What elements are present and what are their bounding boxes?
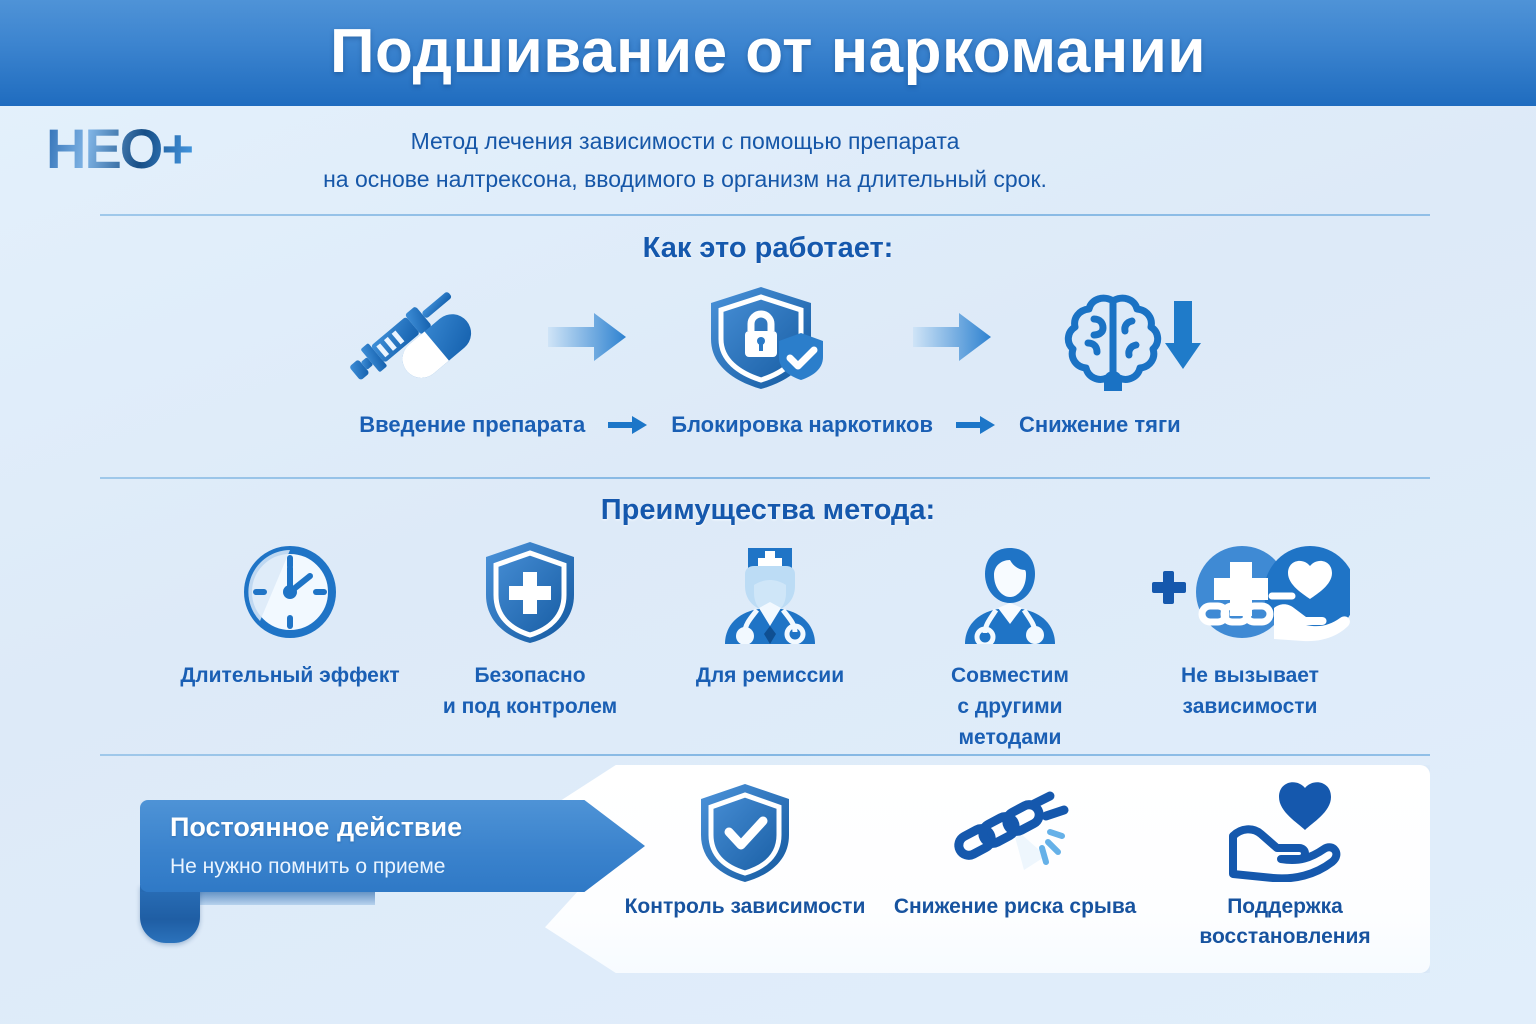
benefit-label: Для ремиссии	[696, 660, 844, 691]
benefits-heading: Преимущества метода:	[0, 494, 1536, 527]
doctor-nurse-icon	[715, 540, 825, 644]
bottom-features-list: Контроль зависимости	[610, 772, 1420, 968]
clock-icon	[240, 540, 340, 644]
how-it-works-labels: Введение препарата Блокировка наркотиков…	[300, 405, 1240, 445]
page-header: Подшивание от наркомании	[0, 0, 1536, 106]
hand-heart-icon	[1225, 782, 1345, 882]
benefit-label: Не вызывает зависимости	[1181, 660, 1319, 722]
benefit-item: Для ремиссии	[660, 540, 880, 691]
ribbon-tail	[140, 885, 200, 943]
divider-bottom	[100, 754, 1430, 756]
intro-text: Метод лечения зависимости с помощью преп…	[290, 122, 1080, 198]
brain-down-arrow-icon	[1060, 283, 1210, 391]
bottom-feature-item: Контроль зависимости	[615, 782, 875, 922]
infographic-page: Подшивание от наркомании НЕО+ Метод лече…	[0, 0, 1536, 1024]
benefit-item: Безопасно и под контролем	[420, 540, 640, 722]
how-it-works-heading: Как это работает:	[0, 232, 1536, 265]
bottom-feature-item: Поддержка восстановления	[1155, 782, 1415, 952]
neo-plus-logo: НЕО+	[46, 118, 246, 180]
shield-cross-icon	[482, 540, 578, 644]
arrow-right-icon	[544, 307, 632, 367]
ribbon-subtitle: Не нужно помнить о приеме	[170, 855, 445, 879]
benefit-item: Совместим с другими методами	[900, 540, 1120, 753]
how-step-label-2: Блокировка наркотиков	[671, 412, 933, 438]
shield-check-icon	[695, 782, 795, 882]
benefit-item: Длительный эффект	[180, 540, 400, 691]
arrow-right-icon	[909, 307, 997, 367]
bottom-feature-label: Контроль зависимости	[625, 892, 866, 922]
intro-line-1: Метод лечения зависимости с помощью преп…	[290, 122, 1080, 160]
arrow-right-icon	[605, 413, 651, 437]
page-title: Подшивание от наркомании	[0, 8, 1536, 96]
bottom-feature-item: Снижение риска срыва	[885, 782, 1145, 922]
bottom-feature-label: Поддержка восстановления	[1199, 892, 1370, 952]
benefit-label: Длительный эффект	[180, 660, 399, 691]
benefit-item: Не вызывает зависимости	[1140, 540, 1360, 722]
broken-chain-icon	[950, 782, 1080, 882]
chain-heart-hand-icon	[1150, 540, 1350, 644]
divider-top	[100, 214, 1430, 216]
bottom-feature-label: Снижение риска срыва	[894, 892, 1136, 922]
ribbon-title: Постоянное действие	[170, 812, 462, 843]
doctor-stethoscope-icon	[955, 540, 1065, 644]
intro-line-2: на основе налтрексона, вводимого в орган…	[290, 160, 1080, 198]
how-step-label-3: Снижение тяги	[1019, 412, 1181, 438]
how-it-works-icons	[330, 282, 1210, 392]
shield-lock-icon	[695, 283, 845, 391]
benefits-list: Длительный эффект Безопасно и под контро…	[180, 540, 1360, 740]
benefit-label: Совместим с другими методами	[951, 660, 1069, 753]
benefit-label: Безопасно и под контролем	[443, 660, 617, 722]
how-step-label-1: Введение препарата	[359, 412, 585, 438]
arrow-right-icon	[953, 413, 999, 437]
divider-middle	[100, 477, 1430, 479]
syringe-pill-icon	[330, 283, 480, 391]
